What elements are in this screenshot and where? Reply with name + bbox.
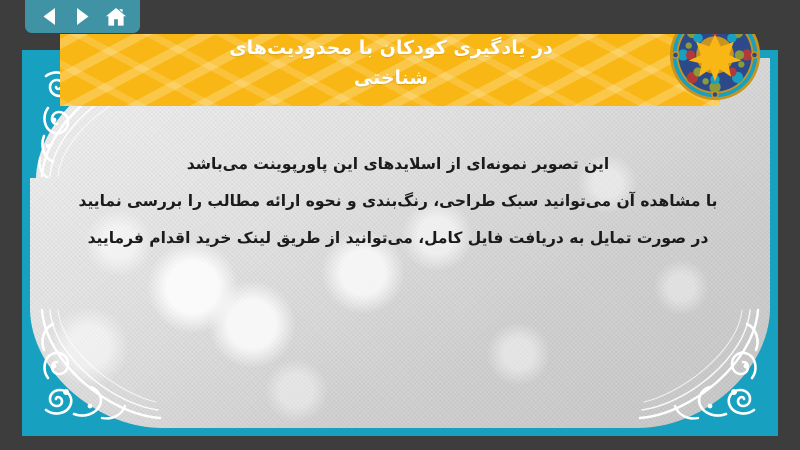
slide-viewer: این تصویر نمونه‌ای از اسلایدهای این پاور… <box>0 0 800 450</box>
slide-canvas: این تصویر نمونه‌ای از اسلایدهای این پاور… <box>30 58 770 428</box>
body-line: در صورت تمایل به دریافت فایل کامل، می‌تو… <box>70 220 726 257</box>
body-line: این تصویر نمونه‌ای از اسلایدهای این پاور… <box>70 146 726 183</box>
forward-triangle-icon[interactable] <box>70 5 96 29</box>
slide-body-text: این تصویر نمونه‌ای از اسلایدهای این پاور… <box>70 146 726 257</box>
navigation-bar <box>25 0 140 33</box>
home-icon[interactable] <box>103 5 129 29</box>
arabesque-corner-icon <box>30 308 162 428</box>
slide-frame: این تصویر نمونه‌ای از اسلایدهای این پاور… <box>22 50 778 436</box>
arabesque-corner-icon <box>638 308 770 428</box>
body-line: با مشاهده آن می‌توانید سبک طراحی، رنگ‌بن… <box>70 183 726 220</box>
back-triangle-icon[interactable] <box>36 5 62 29</box>
